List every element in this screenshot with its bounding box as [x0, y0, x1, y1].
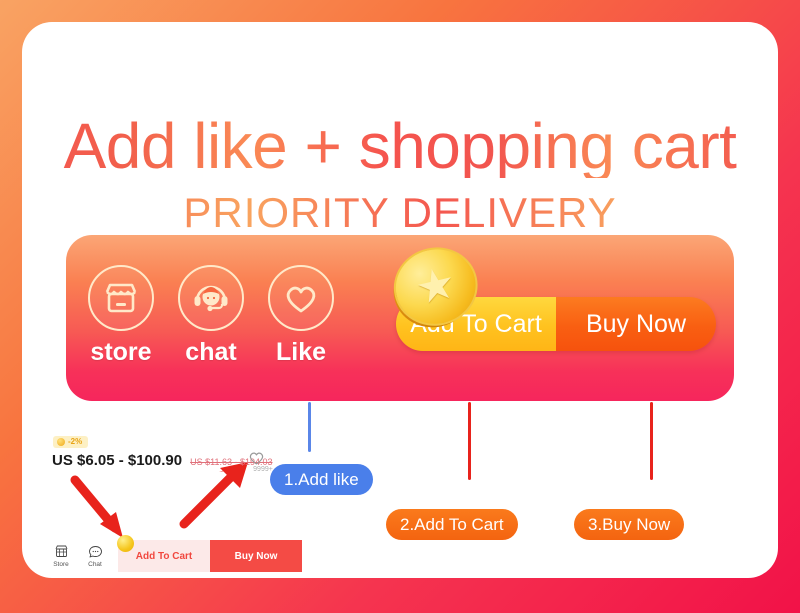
bottom-bar-store[interactable]: Store: [44, 544, 78, 568]
callout-add-to-cart: 2.Add To Cart: [386, 509, 518, 540]
banner-item-store-label: store: [90, 340, 151, 365]
connector-line-buy-now: [650, 402, 653, 480]
banner-item-chat[interactable]: chat: [178, 265, 244, 365]
discount-badge: -2%: [53, 436, 88, 448]
banner-item-store[interactable]: store: [88, 265, 154, 365]
headline-secondary: PRIORITY DELIVERY: [22, 192, 778, 234]
bottom-bar-store-label: Store: [53, 561, 69, 568]
connector-line-like: [308, 402, 311, 452]
arrow-to-add-to-cart: [67, 474, 147, 544]
promo-card: Add like + shopping cart PRIORITY DELIVE…: [22, 22, 778, 578]
price-row: US $6.05 - $100.90 US $11.63 - $194.03: [52, 452, 273, 469]
bottom-bar-buy-now-button[interactable]: Buy Now: [210, 540, 302, 572]
heart-icon: [283, 282, 319, 315]
discount-badge-label: -2%: [68, 438, 82, 446]
store-icon-circle: [88, 265, 154, 331]
bottom-bar-cta-group: Add To Cart Buy Now: [118, 540, 302, 572]
current-price: US $6.05 - $100.90: [52, 452, 182, 469]
shop-outline-icon: [54, 544, 69, 559]
callout-buy-now: 3.Buy Now: [574, 509, 684, 540]
bottom-bar-coin-icon: [117, 535, 134, 552]
callout-add-like: 1.Add like: [270, 464, 373, 495]
connector-line-add-to-cart: [468, 402, 471, 480]
chat-icon-circle: [178, 265, 244, 331]
like-icon-circle: [268, 265, 334, 331]
coin-icon: [57, 438, 65, 446]
bottom-bar-chat[interactable]: Chat: [78, 544, 112, 568]
headline-primary: Add like + shopping cart: [22, 114, 778, 178]
banner-icon-row: store: [76, 265, 346, 385]
shop-icon: [103, 281, 139, 315]
chat-bubble-icon: [88, 544, 103, 559]
banner-item-like[interactable]: Like: [268, 265, 334, 365]
banner-item-like-label: Like: [276, 340, 326, 365]
mock-bottom-bar: Store Chat Add To Cart Buy Now: [44, 536, 309, 576]
bottom-bar-chat-label: Chat: [88, 561, 102, 568]
heart-outline-icon: [248, 450, 278, 466]
banner-item-chat-label: chat: [185, 340, 236, 365]
buy-now-button[interactable]: Buy Now: [556, 297, 716, 351]
headset-support-icon: [192, 280, 230, 316]
